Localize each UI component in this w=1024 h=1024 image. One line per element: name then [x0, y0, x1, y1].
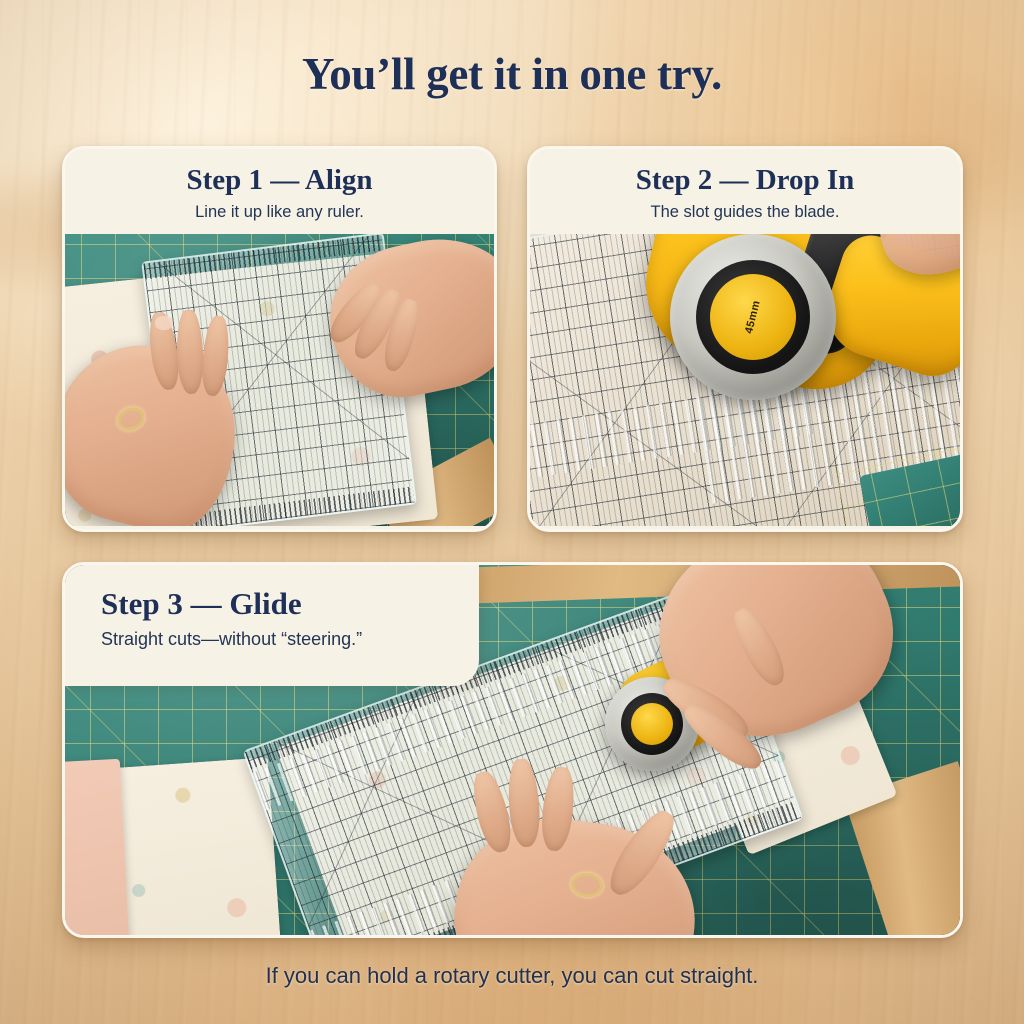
step-1-subtitle: Line it up like any ruler.: [79, 203, 480, 222]
blade-size-label: 45mm: [743, 299, 763, 335]
step-card-2: Step 2 — Drop In The slot guides the bla…: [527, 146, 963, 532]
step-1-header: Step 1 — Align Line it up like any ruler…: [65, 149, 494, 234]
page-headline: You’ll get it in one try.: [0, 48, 1024, 100]
step-2-subtitle: The slot guides the blade.: [544, 203, 946, 222]
step-2-title: Step 2 — Drop In: [544, 165, 946, 196]
rotary-blade-hub: [631, 703, 673, 745]
left-hand-nail: [155, 316, 173, 330]
step-1-title: Step 1 — Align: [79, 165, 480, 196]
step-2-photo: 45mm: [530, 234, 960, 526]
cutting-mat: [859, 454, 960, 527]
step-2-header: Step 2 — Drop In The slot guides the bla…: [530, 149, 960, 234]
step-card-3: Step 3 — Glide Straight cuts—without “st…: [62, 562, 963, 938]
rotary-blade-label: 45mm: [710, 274, 796, 360]
step-3-header: Step 3 — Glide Straight cuts—without “st…: [65, 565, 479, 686]
step-1-photo: [65, 234, 494, 526]
step-3-subtitle: Straight cuts—without “steering.”: [101, 629, 479, 650]
step-3-title: Step 3 — Glide: [101, 587, 479, 620]
page-footer: If you can hold a rotary cutter, you can…: [0, 963, 1024, 989]
step-card-1: Step 1 — Align Line it up like any ruler…: [62, 146, 497, 532]
floral-fabric-left-fold: [65, 759, 130, 938]
